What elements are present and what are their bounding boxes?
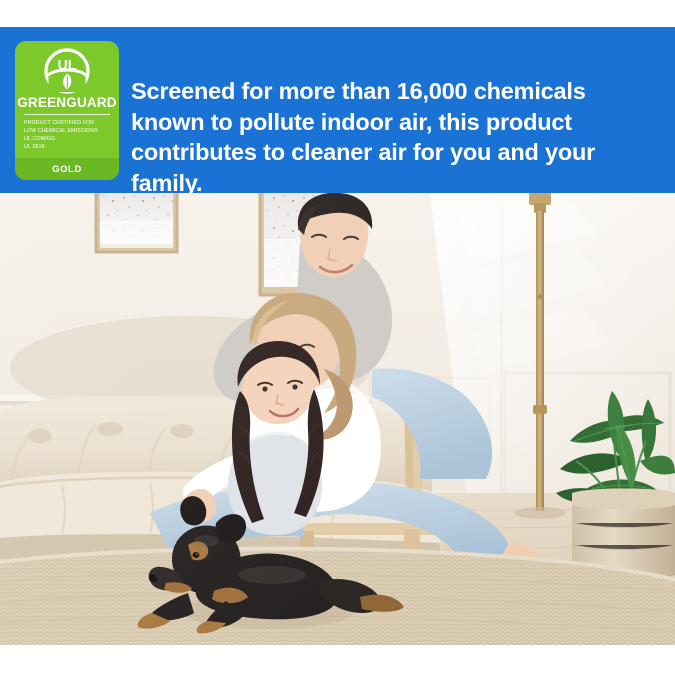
fine-print-line-2: LOW CHEMICAL EMISSIONS bbox=[24, 127, 110, 135]
badge-title: GREENGUARD bbox=[17, 96, 117, 110]
badge-level-gold: GOLD bbox=[15, 158, 119, 180]
greenguard-gold-badge: UL GREENGUARD PRODUCT CERTIFIED FOR LOW … bbox=[15, 41, 119, 180]
promo-image-root: Screened for more than 16,000 chemicals … bbox=[0, 0, 675, 675]
ul-mark-text: UL bbox=[58, 57, 77, 73]
fine-print-line-4: UL 2818 bbox=[24, 143, 110, 151]
ul-leaf-mark-icon: UL bbox=[44, 48, 90, 94]
fine-print-line-3: UL.COM/GG bbox=[24, 135, 110, 143]
badge-divider bbox=[24, 114, 110, 115]
fine-print-line-1: PRODUCT CERTIFIED FOR bbox=[24, 119, 110, 127]
banner-headline: Screened for more than 16,000 chemicals … bbox=[131, 76, 651, 198]
lifestyle-photo bbox=[0, 193, 675, 645]
badge-fine-print: PRODUCT CERTIFIED FOR LOW CHEMICAL EMISS… bbox=[24, 119, 110, 151]
